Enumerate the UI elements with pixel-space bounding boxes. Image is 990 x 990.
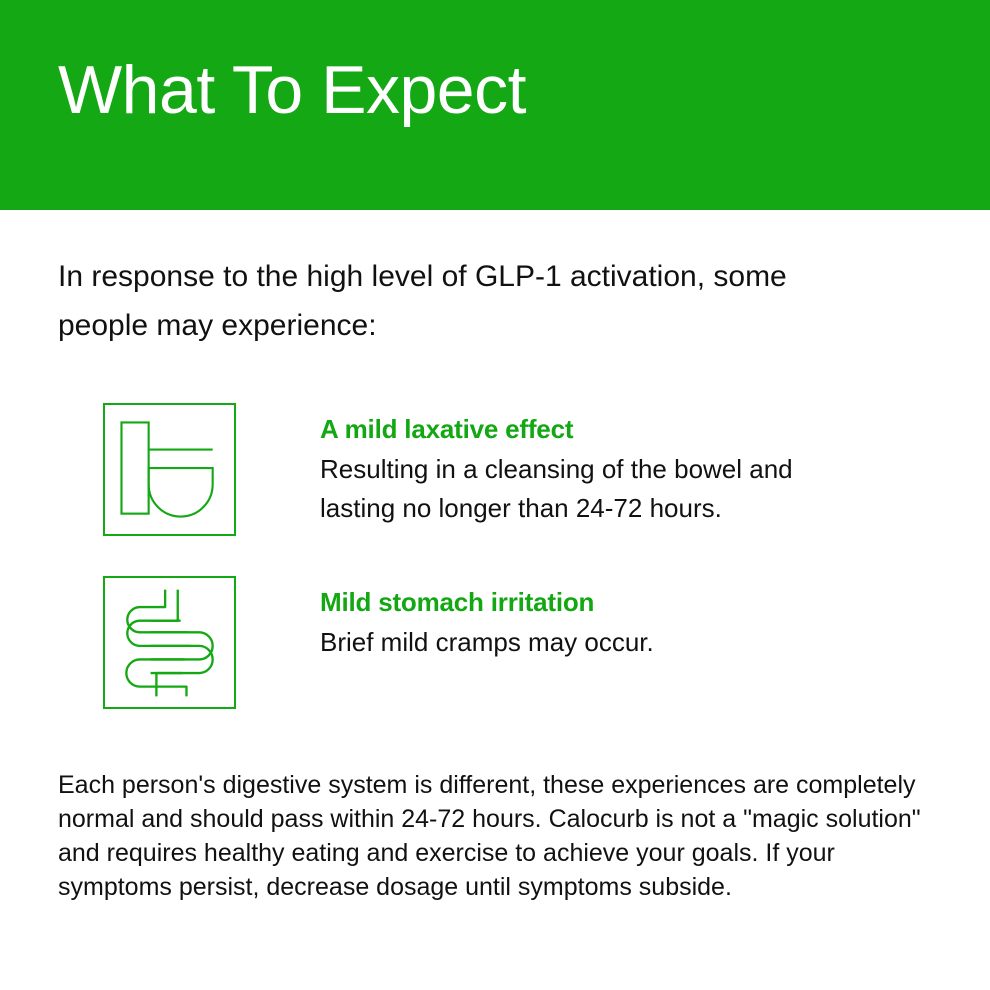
header-banner: What To Expect	[0, 0, 990, 210]
list-item-description: Brief mild cramps may occur.	[320, 623, 654, 662]
list-item-text: Mild stomach irritation Brief mild cramp…	[320, 576, 654, 662]
expectation-list: A mild laxative effect Resulting in a cl…	[0, 395, 990, 709]
intro-paragraph: In response to the high level of GLP-1 a…	[58, 252, 878, 350]
intestines-icon	[103, 576, 236, 709]
list-item-heading: Mild stomach irritation	[320, 586, 654, 619]
list-item-description: Resulting in a cleansing of the bowel an…	[320, 450, 840, 528]
list-item-heading: A mild laxative effect	[320, 413, 840, 446]
footer-disclaimer: Each person's digestive system is differ…	[58, 768, 936, 904]
list-item: A mild laxative effect Resulting in a cl…	[103, 403, 990, 536]
page-title: What To Expect	[58, 56, 526, 124]
list-item-text: A mild laxative effect Resulting in a cl…	[320, 403, 840, 528]
list-item: Mild stomach irritation Brief mild cramp…	[103, 576, 990, 709]
stomach-icon	[103, 403, 236, 536]
